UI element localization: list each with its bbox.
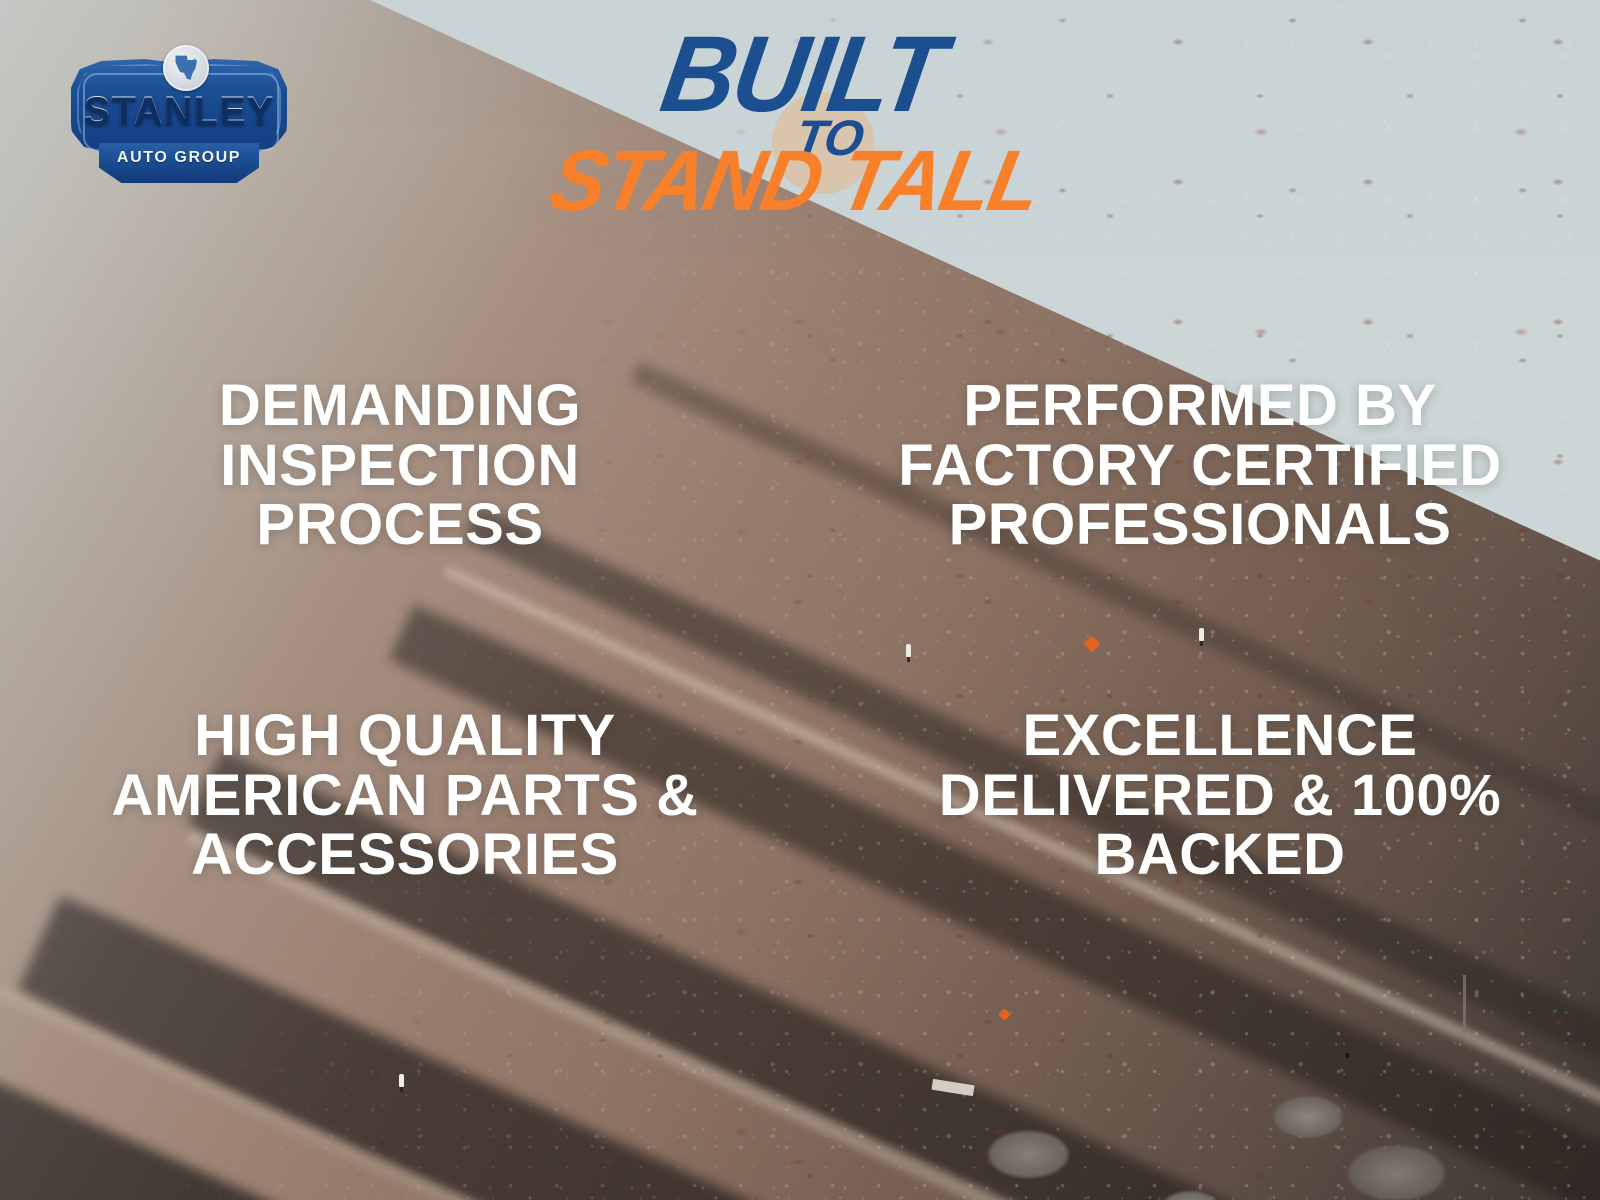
feature-high-quality-american-parts-accessories: HIGH QUALITY AMERICAN PARTS & ACCESSORIE… xyxy=(45,706,765,885)
texas-badge-circle xyxy=(163,45,209,91)
promo-banner: STANLEY AUTO GROUP BUILT TO STAND TALL D… xyxy=(0,0,1600,1200)
hiker-figure xyxy=(399,1074,404,1087)
campaign-line-stand-tall: STAND TALL xyxy=(543,138,1046,224)
boulder-cluster xyxy=(896,936,1600,1200)
built-to-stand-tall-logo: BUILT TO STAND TALL xyxy=(560,14,1120,229)
hiker-figure xyxy=(1345,1040,1350,1053)
feature-demanding-inspection-process: DEMANDING INSPECTION PROCESS xyxy=(95,376,705,555)
stanley-auto-group-logo[interactable]: STANLEY AUTO GROUP xyxy=(63,45,295,190)
hiker-figure xyxy=(1199,628,1204,641)
texas-state-icon xyxy=(174,54,199,81)
logo-wordmark: STANLEY xyxy=(63,89,295,134)
hiker-figure xyxy=(906,644,911,657)
logo-tagline: AUTO GROUP xyxy=(99,149,259,167)
feature-excellence-delivered-100-backed: EXCELLENCE DELIVERED & 100% BACKED xyxy=(880,706,1560,885)
guard-post xyxy=(1463,975,1466,1033)
feature-performed-by-factory-certified-professionals: PERFORMED BY FACTORY CERTIFIED PROFESSIO… xyxy=(855,376,1545,555)
